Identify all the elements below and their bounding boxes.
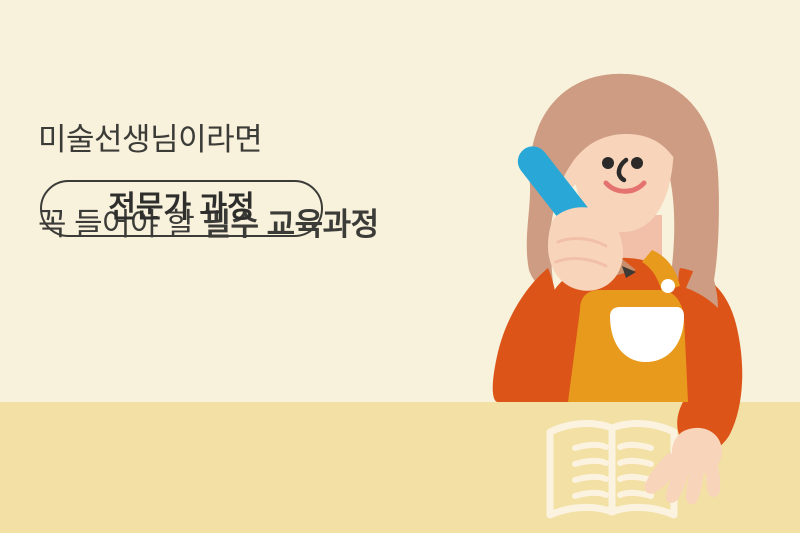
course-badge[interactable]: 전문가 과정 <box>40 180 323 237</box>
apron-button <box>661 279 675 293</box>
left-arm-sleeve <box>493 268 558 402</box>
illustration-woman-teacher <box>430 0 800 533</box>
course-badge-label: 전문가 과정 <box>108 193 254 225</box>
eye-left <box>602 157 614 169</box>
headline-line-1: 미술선생님이라면 <box>38 119 468 162</box>
promo-banner: 미술선생님이라면 꼭 들어야 할 필수 교육과정 전문가 과정 <box>0 0 800 533</box>
eye-right <box>631 157 643 169</box>
